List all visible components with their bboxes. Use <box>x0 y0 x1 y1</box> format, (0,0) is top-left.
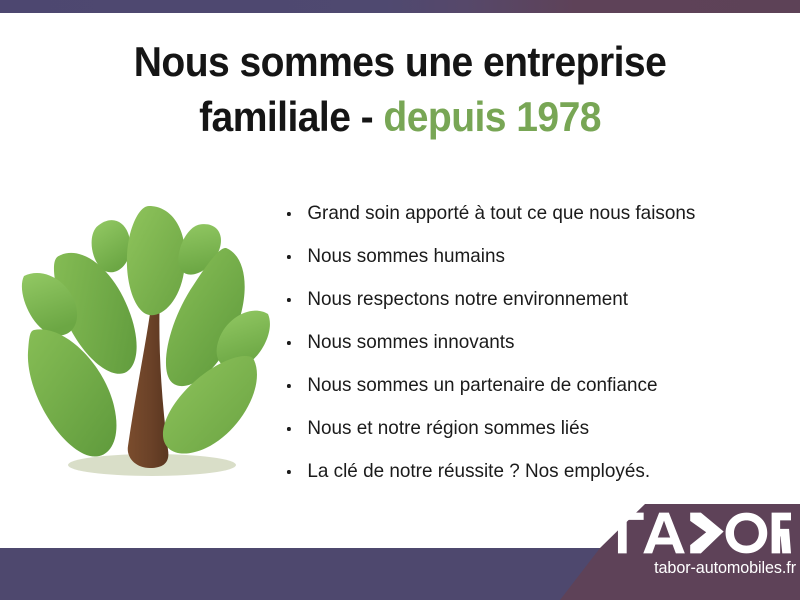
bullet-dot-icon <box>287 212 290 216</box>
top-accent-bar <box>0 0 800 13</box>
slide-canvas: Nous sommes une entreprise familiale - d… <box>0 0 800 600</box>
bullet-dot-icon <box>287 427 290 431</box>
leaf-top-center <box>127 206 185 315</box>
list-item-label: Nous sommes un partenaire de confiance <box>307 374 657 396</box>
tree-illustration <box>18 200 274 485</box>
list-item: Nous et notre région sommes liés <box>286 407 771 450</box>
bullet-dot-icon <box>287 384 290 388</box>
bullet-dot-icon <box>287 255 290 259</box>
brand-url[interactable]: tabor-automobiles.fr <box>565 559 796 578</box>
list-item: Nous respectons notre environnement <box>286 278 771 321</box>
list-item-label: Nous et notre région sommes liés <box>307 417 589 439</box>
list-item: Nous sommes innovants <box>286 321 771 364</box>
tree-trunk <box>128 292 169 468</box>
list-item-label: La clé de notre réussite ? Nos employés. <box>307 460 650 482</box>
bullet-dot-icon <box>287 341 290 345</box>
list-item: Grand soin apporté à tout ce que nous fa… <box>286 192 771 235</box>
list-item-label: Nous respectons notre environnement <box>307 288 628 310</box>
headline-line-2: familiale - depuis 1978 <box>28 89 772 144</box>
headline-line-1-text: Nous sommes une entreprise <box>134 38 667 85</box>
value-proposition-list: Grand soin apporté à tout ce que nous fa… <box>286 192 786 493</box>
headline-line-1: Nous sommes une entreprise <box>28 34 772 89</box>
list-item-label: Nous sommes humains <box>307 245 505 267</box>
list-item: Nous sommes humains <box>286 235 771 278</box>
headline-line-2-accent: depuis 1978 <box>383 93 600 140</box>
list-item-label: Grand soin apporté à tout ce que nous fa… <box>307 202 695 224</box>
list-item: Nous sommes un partenaire de confiance <box>286 364 771 407</box>
tabor-wordmark-icon <box>601 512 791 554</box>
list-item: La clé de notre réussite ? Nos employés. <box>286 450 771 493</box>
tree-icon <box>18 200 274 485</box>
bullet-dot-icon <box>287 298 290 302</box>
headline-line-2-prefix: familiale - <box>199 93 373 140</box>
brand-logo[interactable] <box>601 512 791 554</box>
page-title: Nous sommes une entreprise familiale - d… <box>28 34 772 144</box>
bullet-dot-icon <box>287 470 290 474</box>
list-item-label: Nous sommes innovants <box>307 331 514 353</box>
